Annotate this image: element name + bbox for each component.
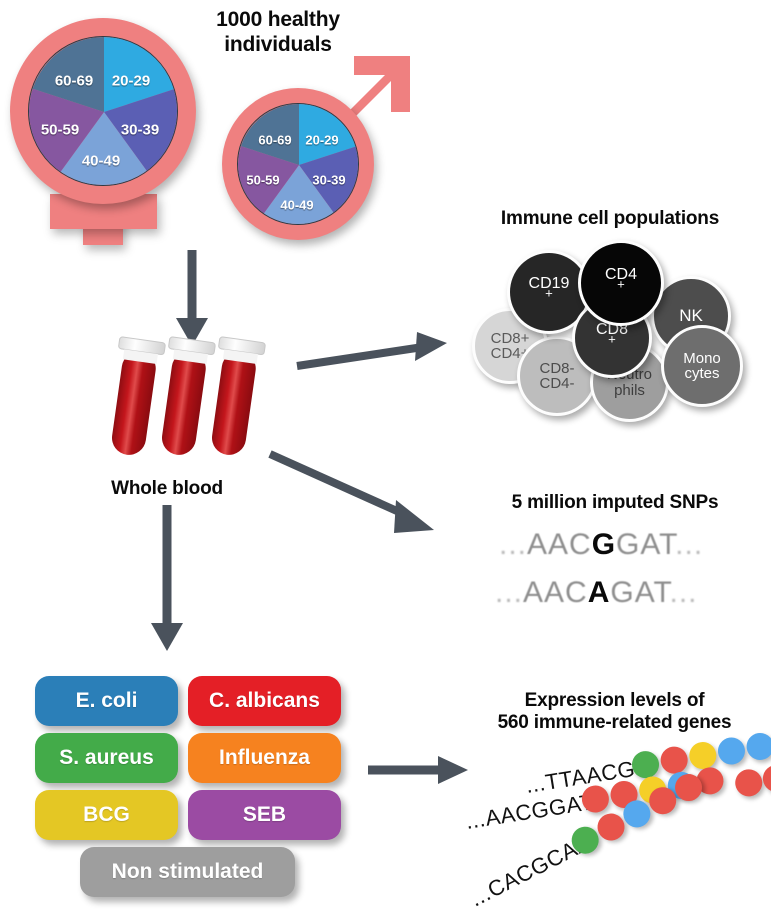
arrow-blood-to-snps [268,450,448,545]
snps-heading: 5 million imputed SNPs [480,492,750,514]
snp-row-2-prefix: ... [495,576,523,609]
stimulus-pill-seb[interactable]: SEB [188,790,341,840]
male-age-label-40-49: 40-49 [280,198,313,213]
immune-cell-label-cd19plus: CD19+ [529,276,570,309]
expression-heading: Expression levels of 560 immune-related … [462,690,767,735]
stimulus-pill-influenza[interactable]: Influenza [188,733,341,783]
expression-bead [745,731,771,762]
snp-row-1-left: AAC [527,528,592,561]
stimulus-pill-c-albicans[interactable]: C. albicans [188,676,341,726]
expression-bead [659,745,690,776]
stimulus-label-c-albicans: C. albicans [209,689,320,713]
male-age-label-50-59: 50-59 [246,173,279,188]
immune-cell-monocytes: Mono cytes [661,325,743,407]
stimulus-label-non-stimulated: Non stimulated [112,860,264,884]
snp-row-1-right: GAT [616,528,675,561]
snp-sequence-block: ...AACGGAT... ...AACAGAT... [495,528,745,620]
stimulus-label-e-coli: E. coli [76,689,138,713]
male-age-pie: 20-29 30-39 40-49 50-59 60-69 [237,103,359,225]
female-age-label-60-69: 60-69 [55,73,93,90]
stimulus-pill-bcg[interactable]: BCG [35,790,178,840]
stimulus-pill-e-coli[interactable]: E. coli [35,676,178,726]
immune-cell-label-cd8plus-cd4plus-line1: CD8+ [491,331,530,346]
expression-heading-line1: Expression levels of [462,690,767,712]
arrow-blood-to-stimuli [145,505,189,655]
expression-heading-line2: 560 immune-related genes [462,712,767,734]
stimulus-pill-s-aureus[interactable]: S. aureus [35,733,178,783]
female-age-pie: 20-29 30-39 40-49 50-59 60-69 [28,36,178,186]
snp-row-1-prefix: ... [499,528,527,561]
snp-row-2-left: AAC [523,576,588,609]
male-age-label-20-29: 20-29 [305,133,338,148]
immune-cell-cd4plus: CD4+ [578,240,664,326]
female-age-label-20-29: 20-29 [112,73,150,90]
immune-cell-label-neutrophils-line2: phils [607,383,652,398]
female-age-label-30-39: 30-39 [121,122,159,139]
immune-cell-label-cd8minus-cd4minus-line2: CD4- [539,376,574,391]
cohort-title-line1: 1000 healthy [168,8,388,33]
immune-cell-label-nk: NK [679,307,703,324]
stimulus-label-influenza: Influenza [219,746,310,770]
snp-row-1-variant: G [592,528,616,561]
male-age-label-30-39: 30-39 [312,173,345,188]
stimulus-pill-non-stimulated[interactable]: Non stimulated [80,847,295,897]
arrow-blood-to-immune [295,330,455,390]
stimulus-label-bcg: BCG [83,803,130,827]
snp-row-2-variant: A [588,576,611,609]
immune-cell-cd19-sup: + [545,286,553,301]
figure-canvas: 1000 healthy individuals 20-29 30-39 40-… [0,0,771,922]
female-gender-symbol: 20-29 30-39 40-49 50-59 60-69 [10,18,200,248]
immune-cell-cluster: CD8+ CD4+ CD19+ CD4+ NK CD8+ [465,240,765,420]
snp-row-2-right: GAT [610,576,669,609]
immune-cell-cd8-sup: + [608,332,616,347]
female-age-label-50-59: 50-59 [41,122,79,139]
expression-strand-group: ...TTAACGG ...AACGGAT ...CACGCAA [455,742,771,917]
snp-row-2: ...AACAGAT... [495,576,698,610]
immune-cell-label-monocytes-line2: cytes [683,366,721,381]
whole-blood-tubes [95,335,285,465]
snp-row-1-suffix: ... [675,528,703,561]
male-age-label-60-69: 60-69 [258,133,291,148]
male-gender-symbol: 20-29 30-39 40-49 50-59 60-69 [210,40,425,240]
stimuli-panel: E. coli C. albicans S. aureus Influenza … [35,676,345,896]
whole-blood-label: Whole blood [82,478,252,500]
immune-cell-cd4-sup: + [617,277,625,292]
stimulus-label-s-aureus: S. aureus [59,746,154,770]
immune-cell-label-cd4plus: CD4+ [605,267,637,300]
immune-cell-label-cd8minus-cd4minus-line1: CD8- [539,361,574,376]
stimulus-label-seb: SEB [243,803,286,827]
immune-cell-label-cd8plus: CD8+ [596,322,628,355]
female-age-label-40-49: 40-49 [82,153,120,170]
immune-heading: Immune cell populations [455,208,765,230]
immune-cell-label-monocytes-line1: Mono [683,351,721,366]
snp-row-2-suffix: ... [670,576,698,609]
blood-tubes-svg [95,335,285,465]
snp-row-1: ...AACGGAT... [499,528,703,562]
